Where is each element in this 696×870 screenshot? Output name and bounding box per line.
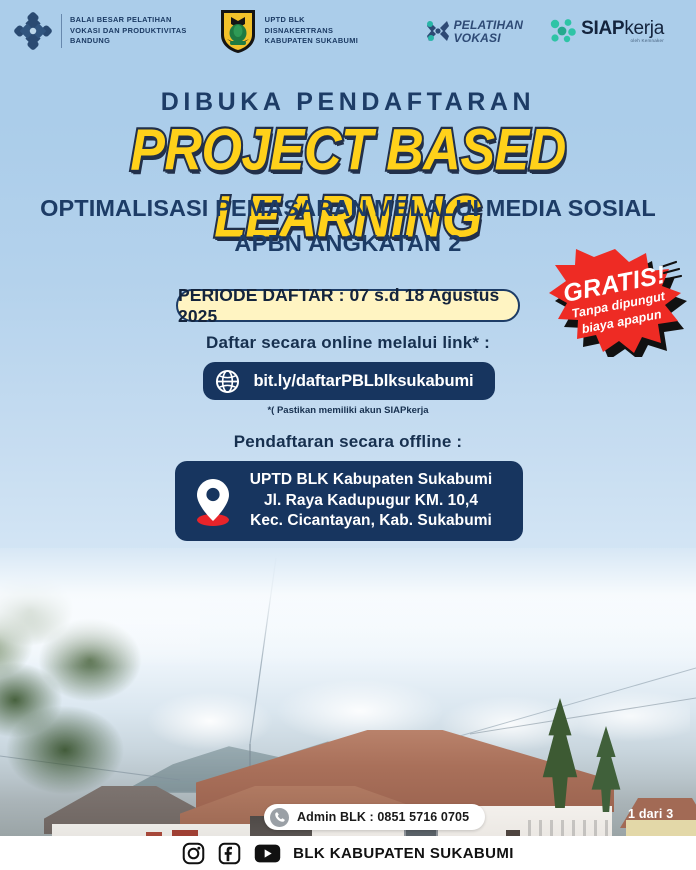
sukabumi-shield-icon bbox=[218, 8, 258, 54]
vokasi-line-1: PELATIHAN bbox=[454, 19, 524, 31]
pelatihan-vokasi-wordmark: PELATIHAN VOKASI bbox=[454, 19, 524, 44]
online-registration-label: Daftar secara online melalui link* : bbox=[0, 333, 696, 353]
bbpvp-logo-text: BALAI BESAR PELATIHAN VOKASI DAN PRODUKT… bbox=[70, 15, 187, 47]
offline-registration-label: Pendaftaran secara offline : bbox=[0, 432, 696, 452]
facebook-icon[interactable] bbox=[218, 842, 254, 865]
siapkerja-wordmark: SIAPkerja oleh Kemnaker bbox=[581, 19, 664, 44]
youtube-icon[interactable] bbox=[254, 844, 293, 863]
address-line-3: Kec. Cicantayan, Kab. Sukabumi bbox=[235, 511, 507, 532]
registration-link-button[interactable]: bit.ly/daftarPBLblksukabumi bbox=[203, 362, 495, 400]
bbpvp-line-1: BALAI BESAR PELATIHAN bbox=[70, 15, 187, 26]
address-line-2: Jl. Raya Kadupugur KM. 10,4 bbox=[235, 491, 507, 512]
siapkerja-name: SIAPkerja bbox=[581, 19, 664, 38]
siapkerja-icon bbox=[549, 18, 581, 44]
siapkerja-light: kerja bbox=[624, 18, 664, 39]
logo-uptd-blk-sukabumi: UPTD BLK DISNAKERTRANS KABUPATEN SUKABUM… bbox=[218, 8, 358, 54]
footer-bar: BLK KABUPATEN SUKABUMI bbox=[0, 836, 696, 870]
siapkerja-account-note: *( Pastikan memiliki akun SIAPkerja bbox=[0, 405, 696, 416]
sukabumi-line-1: UPTD BLK bbox=[265, 15, 358, 26]
footer-social-icons bbox=[182, 842, 293, 865]
logo-pelatihan-vokasi: PELATIHAN VOKASI bbox=[425, 18, 524, 44]
sukabumi-line-2: DISNAKERTRANS bbox=[265, 26, 358, 37]
photo-pillars bbox=[520, 820, 612, 836]
vokasi-line-2: VOKASI bbox=[454, 32, 524, 44]
logo-divider bbox=[61, 14, 62, 48]
sukabumi-logo-text: UPTD BLK DISNAKERTRANS KABUPATEN SUKABUM… bbox=[265, 15, 358, 47]
logo-bbpvp-bandung: BALAI BESAR PELATIHAN VOKASI DAN PRODUKT… bbox=[14, 12, 187, 50]
phone-icon bbox=[270, 808, 289, 827]
poster-root: BALAI BESAR PELATIHAN VOKASI DAN PRODUKT… bbox=[0, 0, 696, 870]
registration-period-badge: PERIODE DAFTAR : 07 s.d 18 Agustus 2025 bbox=[176, 289, 520, 322]
address-card: UPTD BLK Kabupaten Sukabumi Jl. Raya Kad… bbox=[175, 461, 523, 541]
hero-subtitle-1: OPTIMALISASI PEMASARAN MELALUI MEDIA SOS… bbox=[0, 195, 696, 222]
hero-title-wrap: PROJECT BASED LEARNING bbox=[0, 124, 696, 186]
address-line-1: UPTD BLK Kabupaten Sukabumi bbox=[235, 470, 507, 491]
map-pin-icon bbox=[191, 475, 235, 527]
logo-siapkerja: SIAPkerja oleh Kemnaker bbox=[549, 18, 664, 44]
photo-top-fade bbox=[0, 548, 696, 666]
sukabumi-line-3: KABUPATEN SUKABUMI bbox=[265, 36, 358, 47]
bbpvp-line-2: VOKASI DAN PRODUKTIVITAS bbox=[70, 26, 187, 37]
bbpvp-line-3: BANDUNG bbox=[70, 36, 187, 47]
address-text: UPTD BLK Kabupaten Sukabumi Jl. Raya Kad… bbox=[235, 470, 511, 532]
page-indicator: 1 dari 3 bbox=[628, 807, 673, 821]
pelatihan-vokasi-icon bbox=[425, 18, 454, 44]
footer-account-name: BLK KABUPATEN SUKABUMI bbox=[293, 845, 514, 862]
admin-contact-text: Admin BLK : 0851 5716 0705 bbox=[297, 810, 469, 824]
header-logo-bar: BALAI BESAR PELATIHAN VOKASI DAN PRODUKT… bbox=[0, 0, 696, 62]
siapkerja-bold: SIAP bbox=[581, 18, 624, 39]
building-photo bbox=[0, 548, 696, 836]
registration-link-text[interactable]: bit.ly/daftarPBLblksukabumi bbox=[240, 372, 495, 391]
siapkerja-tagline: oleh Kemnaker bbox=[581, 39, 664, 44]
bbpvp-knot-icon bbox=[14, 12, 52, 50]
globe-icon bbox=[215, 369, 240, 394]
instagram-icon[interactable] bbox=[182, 842, 218, 865]
photo-wall-far-right bbox=[626, 820, 696, 836]
admin-contact-badge: Admin BLK : 0851 5716 0705 bbox=[264, 804, 485, 830]
hero-kicker: DIBUKA PENDAFTARAN bbox=[0, 88, 696, 117]
